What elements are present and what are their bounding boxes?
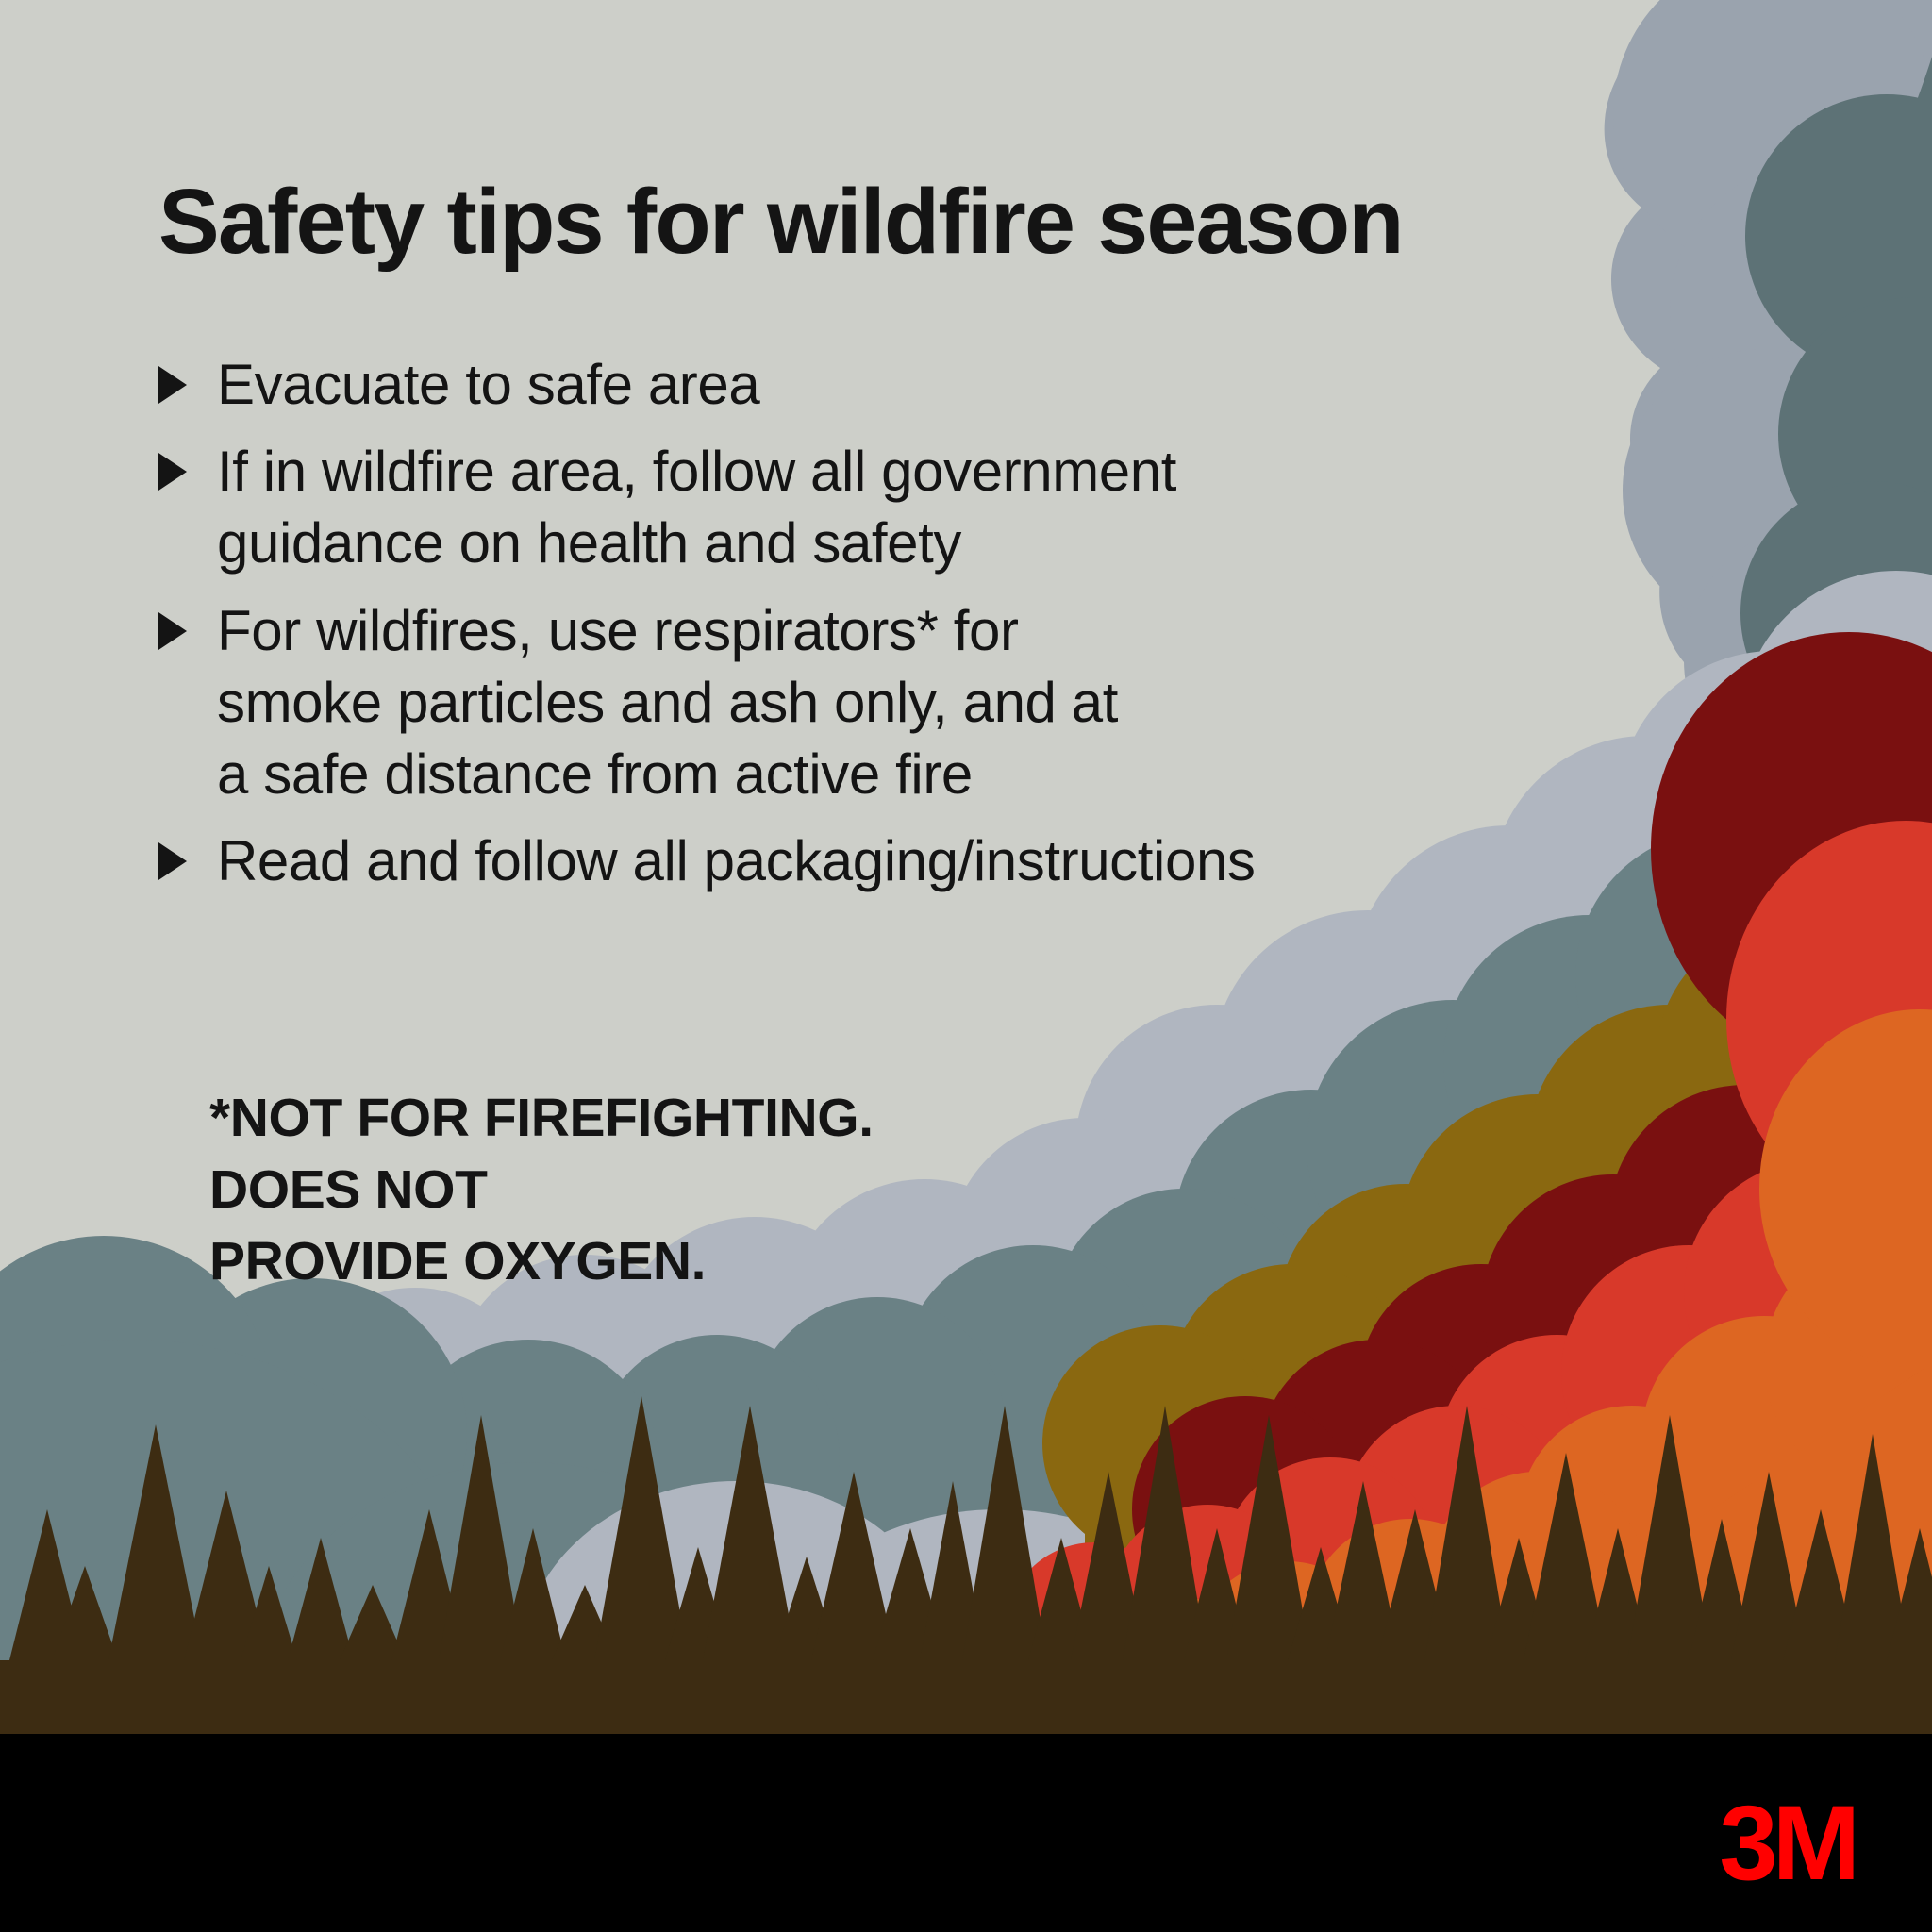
wildfire-illustration [0,0,1932,1932]
page-title: Safety tips for wildfire season [158,175,1819,270]
triangle-right-icon [158,349,217,410]
triangle-right-icon [158,825,217,887]
footer-bar [0,1734,1932,1932]
firefighting-disclaimer: *NOT FOR FIREFIGHTING. DOES NOT PROVIDE … [209,1083,874,1297]
list-item: If in wildfire area, follow all governme… [158,436,1706,579]
safety-tips-list: Evacuate to safe area If in wildfire are… [158,349,1706,912]
triangle-right-icon [158,436,217,497]
triangle-right-icon [158,595,217,657]
brand-logo-3m: 3M [1719,1790,1855,1896]
list-item: For wildfires, use respirators* for smok… [158,595,1706,811]
list-item-label: Read and follow all packaging/instructio… [217,825,1706,897]
list-item-label: Evacuate to safe area [217,349,1706,421]
list-item: Read and follow all packaging/instructio… [158,825,1706,897]
wildfire-safety-poster: Safety tips for wildfire season Evacuate… [0,0,1932,1932]
list-item-label: For wildfires, use respirators* for smok… [217,595,1706,811]
list-item: Evacuate to safe area [158,349,1706,421]
list-item-label: If in wildfire area, follow all governme… [217,436,1706,579]
